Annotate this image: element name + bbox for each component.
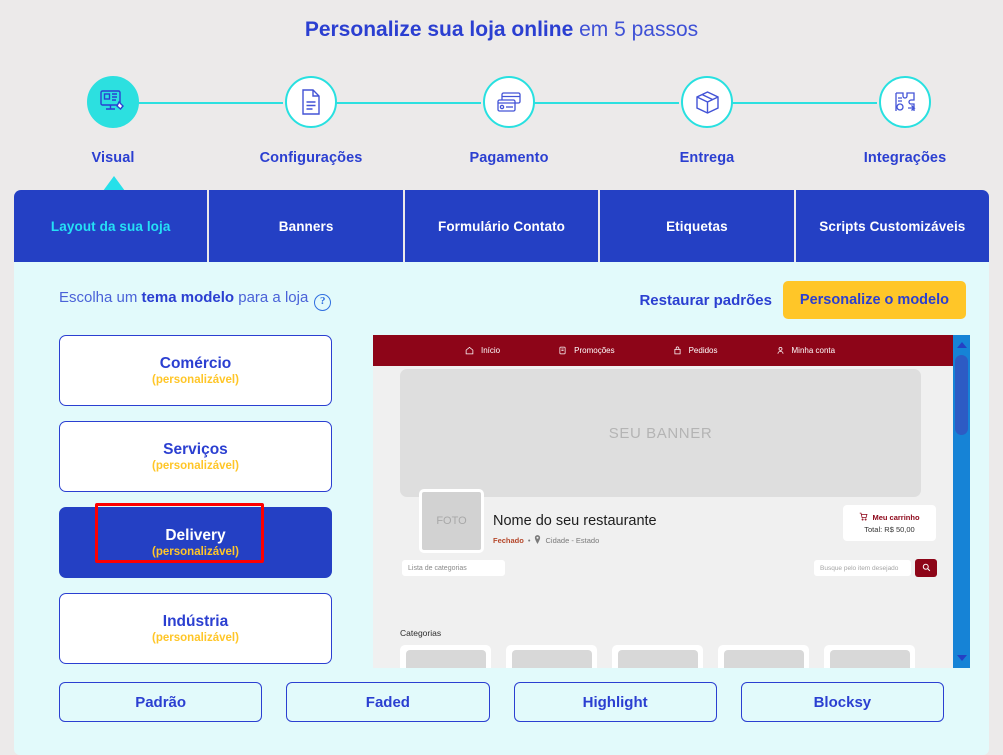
preview-search-button[interactable] [915, 559, 937, 577]
tab-banners[interactable]: Banners [209, 190, 402, 262]
step-label: Pagamento [429, 150, 589, 166]
box-icon [694, 89, 721, 116]
preview-nav-promocoes[interactable]: Promoções [558, 346, 614, 355]
category-thumb [406, 650, 486, 668]
choose-prefix: Escolha um [59, 289, 142, 306]
preview-nav-label: Promoções [574, 346, 614, 355]
preview-location: Cidade - Estado [545, 536, 599, 545]
layout-panel: Escolha um tema modelo para a loja? Rest… [14, 262, 989, 755]
choose-suffix: para a loja [234, 289, 308, 306]
step-circle [87, 76, 139, 128]
credit-card-icon [495, 89, 523, 115]
preview-category-card[interactable] [400, 645, 491, 668]
theme-card-delivery[interactable]: Delivery (personalizável) [59, 507, 332, 578]
step-circle [879, 76, 931, 128]
step-integracoes[interactable]: Integrações [825, 76, 985, 166]
preview-category-card[interactable] [824, 645, 915, 668]
preview-cart[interactable]: Meu carrinho Total: R$ 50,00 [843, 505, 936, 541]
tab-bar: Layout da sua loja Banners Formulário Co… [14, 190, 989, 262]
preview-store-meta: Fechado • Cidade - Estado [493, 535, 599, 546]
preview-category-card[interactable] [612, 645, 703, 668]
tab-label: Etiquetas [666, 219, 728, 234]
puzzle-gear-icon [891, 89, 919, 116]
preview-photo-placeholder: FOTO [419, 489, 484, 553]
preview-nav-label: Início [481, 346, 500, 355]
style-button-blocksy[interactable]: Blocksy [741, 682, 944, 722]
document-icon [299, 88, 323, 116]
personalize-template-button[interactable]: Personalize o modelo [783, 281, 966, 319]
tab-label: Scripts Customizáveis [819, 219, 965, 234]
tab-etiquetas[interactable]: Etiquetas [600, 190, 793, 262]
theme-list: Comércio (personalizável) Serviços (pers… [59, 335, 332, 679]
step-circle [681, 76, 733, 128]
preview-store-name: Nome do seu restaurante [493, 513, 657, 529]
scroll-up-arrow-icon[interactable] [957, 342, 967, 348]
preview-status: Fechado [493, 536, 524, 545]
tab-scripts-customizaveis[interactable]: Scripts Customizáveis [796, 190, 989, 262]
preview-category-cards [400, 645, 915, 668]
step-label: Configurações [231, 150, 391, 166]
preview-category-card[interactable] [718, 645, 809, 668]
step-configuracoes[interactable]: Configurações [231, 76, 391, 166]
cart-icon [859, 512, 868, 523]
theme-card-industria[interactable]: Indústria (personalizável) [59, 593, 332, 664]
preview-nav-inicio[interactable]: Início [465, 346, 500, 355]
preview-cart-header: Meu carrinho [859, 512, 919, 523]
preview-nav-label: Pedidos [689, 346, 718, 355]
user-icon [776, 346, 785, 355]
theme-sub: (personalizável) [152, 545, 239, 560]
preview-category-card[interactable] [506, 645, 597, 668]
theme-name: Comércio [160, 354, 232, 373]
app-root: Personalize sua loja online em 5 passos [0, 0, 1003, 755]
store-preview: Início Promoções Pedidos [373, 335, 953, 668]
home-icon [465, 346, 474, 355]
theme-sub: (personalizável) [152, 631, 239, 646]
preview-banner: SEU BANNER [400, 369, 921, 497]
choose-bold: tema modelo [142, 289, 235, 306]
search-icon [922, 559, 931, 577]
step-circle [285, 76, 337, 128]
style-button-faded[interactable]: Faded [286, 682, 489, 722]
step-pagamento[interactable]: Pagamento [429, 76, 589, 166]
style-button-padrao[interactable]: Padrão [59, 682, 262, 722]
step-circle [483, 76, 535, 128]
category-thumb [512, 650, 592, 668]
preview-cart-total: Total: R$ 50,00 [864, 525, 914, 534]
theme-name: Serviços [163, 440, 228, 459]
theme-card-servicos[interactable]: Serviços (personalizável) [59, 421, 332, 492]
theme-card-comercio[interactable]: Comércio (personalizável) [59, 335, 332, 406]
stepper: Visual Configurações [0, 76, 1003, 176]
preview-separator: • [528, 536, 531, 545]
preview-scrollbar[interactable] [953, 335, 970, 668]
tag-icon [558, 346, 567, 355]
monitor-design-icon [99, 89, 127, 115]
tab-formulario-contato[interactable]: Formulário Contato [405, 190, 598, 262]
restore-defaults-button[interactable]: Restaurar padrões [635, 286, 776, 315]
theme-sub: (personalizável) [152, 373, 239, 388]
preview-cart-label: Meu carrinho [872, 513, 919, 522]
theme-sub: (personalizável) [152, 459, 239, 474]
theme-name: Delivery [165, 526, 225, 545]
preview-nav: Início Promoções Pedidos [373, 335, 953, 366]
preview-nav-pedidos[interactable]: Pedidos [673, 346, 718, 355]
category-thumb [724, 650, 804, 668]
tab-label: Banners [279, 219, 334, 234]
style-buttons: Padrão Faded Highlight Blocksy [59, 682, 944, 722]
preview-category-select[interactable]: Lista de categorias [402, 560, 505, 576]
active-tab-pointer [103, 176, 125, 191]
page-title: Personalize sua loja online em 5 passos [0, 18, 1003, 42]
scrollbar-thumb[interactable] [955, 355, 968, 435]
preview-nav-label: Minha conta [792, 346, 836, 355]
category-thumb [830, 650, 910, 668]
preview-search-input[interactable]: Busque pelo item desejado [814, 560, 911, 576]
preview-categories-label: Categorias [400, 628, 441, 638]
choose-theme-label: Escolha um tema modelo para a loja? [59, 289, 331, 311]
help-icon[interactable]: ? [314, 294, 331, 311]
scroll-down-arrow-icon[interactable] [957, 655, 967, 661]
step-label: Entrega [627, 150, 787, 166]
step-label: Visual [33, 150, 193, 166]
pin-icon [534, 535, 541, 546]
tab-layout-da-sua-loja[interactable]: Layout da sua loja [14, 190, 207, 262]
page-title-rest: em 5 passos [573, 18, 698, 41]
step-entrega[interactable]: Entrega [627, 76, 787, 166]
style-button-highlight[interactable]: Highlight [514, 682, 717, 722]
preview-nav-minha-conta[interactable]: Minha conta [776, 346, 836, 355]
page-title-bold: Personalize sua loja online [305, 18, 573, 41]
bag-icon [673, 346, 682, 355]
category-thumb [618, 650, 698, 668]
tab-label: Formulário Contato [438, 219, 565, 234]
theme-name: Indústria [163, 612, 228, 631]
step-visual[interactable]: Visual [33, 76, 193, 166]
step-label: Integrações [825, 150, 985, 166]
tab-label: Layout da sua loja [51, 219, 171, 234]
